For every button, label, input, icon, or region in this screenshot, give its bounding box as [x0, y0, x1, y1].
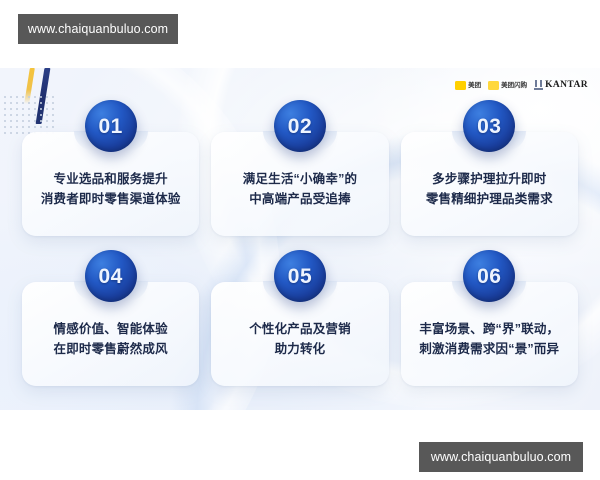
meituan-mark-icon	[455, 81, 466, 90]
card-number: 05	[288, 266, 312, 287]
card-number-badge: 04	[85, 250, 137, 302]
card-line: 在即时零售蔚然成风	[54, 339, 168, 359]
kantar-mark-icon	[534, 80, 543, 90]
card-cell: 丰富场景、跨“界”联动， 刺激消费需求因“景”而异 06	[401, 250, 578, 392]
card-text: 专业选品和服务提升 消费者即时零售渠道体验	[35, 169, 187, 210]
watermark-bottom: www.chaiquanbuluo.com	[419, 442, 583, 472]
card-line: 满足生活“小确幸”的	[243, 169, 358, 189]
card-line: 专业选品和服务提升	[41, 169, 181, 189]
slide-canvas: 美团 美团闪购 KANTAR 专业选品和服务提升 消费者即时零售渠道体验 01	[0, 68, 600, 410]
card-line: 助力转化	[249, 339, 351, 359]
card-number-badge: 06	[463, 250, 515, 302]
card-line: 中高端产品受追捧	[243, 189, 358, 209]
card-line: 零售精细护理品类需求	[426, 189, 553, 209]
kantar-logo: KANTAR	[534, 80, 588, 90]
card-number-badge: 01	[85, 100, 137, 152]
card-number: 04	[98, 266, 122, 287]
card-number: 02	[288, 116, 312, 137]
meituan-shangou-logo-label: 美团闪购	[501, 81, 527, 90]
card-text: 满足生活“小确幸”的 中高端产品受追捧	[237, 169, 364, 210]
card-number-badge: 05	[274, 250, 326, 302]
card-text: 情感价值、智能体验 在即时零售蔚然成风	[48, 319, 174, 360]
card-grid: 专业选品和服务提升 消费者即时零售渠道体验 01 满足生活“小确幸”的 中高端产…	[22, 100, 578, 392]
card-cell: 个性化产品及营销 助力转化 05	[211, 250, 388, 392]
card-line: 消费者即时零售渠道体验	[41, 189, 181, 209]
card-line: 情感价值、智能体验	[54, 319, 168, 339]
card-text: 丰富场景、跨“界”联动， 刺激消费需求因“景”而异	[413, 319, 565, 360]
card-line: 个性化产品及营销	[249, 319, 351, 339]
card-number-badge: 03	[463, 100, 515, 152]
card-cell: 情感价值、智能体验 在即时零售蔚然成风 04	[22, 250, 199, 392]
card-cell: 专业选品和服务提升 消费者即时零售渠道体验 01	[22, 100, 199, 242]
meituan-shangou-mark-icon	[488, 81, 499, 90]
card-cell: 满足生活“小确幸”的 中高端产品受追捧 02	[211, 100, 388, 242]
card-text: 多步骤护理拉升即时 零售精细护理品类需求	[420, 169, 559, 210]
card-number: 03	[477, 116, 501, 137]
card-cell: 多步骤护理拉升即时 零售精细护理品类需求 03	[401, 100, 578, 242]
card-text: 个性化产品及营销 助力转化	[243, 319, 357, 360]
card-line: 刺激消费需求因“景”而异	[419, 339, 559, 359]
meituan-logo-label: 美团	[468, 81, 481, 90]
card-number: 01	[98, 116, 122, 137]
meituan-logo: 美团	[455, 81, 481, 90]
card-line: 多步骤护理拉升即时	[426, 169, 553, 189]
card-number-badge: 02	[274, 100, 326, 152]
kantar-logo-label: KANTAR	[545, 80, 588, 90]
logo-row: 美团 美团闪购 KANTAR	[455, 80, 588, 90]
card-line: 丰富场景、跨“界”联动，	[419, 319, 559, 339]
watermark-top: www.chaiquanbuluo.com	[18, 14, 178, 44]
meituan-shangou-logo: 美团闪购	[488, 81, 527, 90]
card-number: 06	[477, 266, 501, 287]
